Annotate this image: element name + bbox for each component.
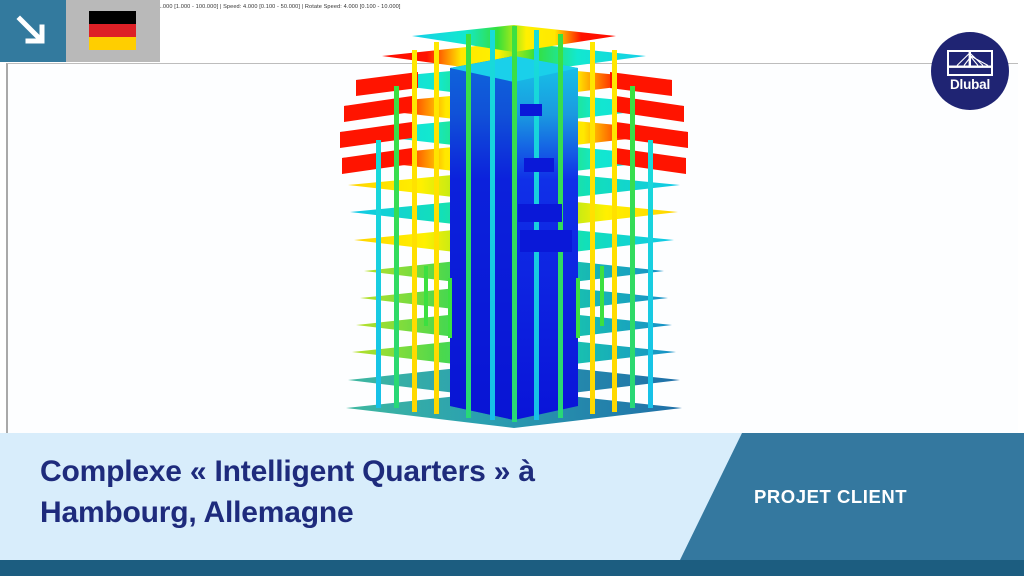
- status-badge: PROJET CLIENT: [754, 486, 907, 508]
- caption-banner: Complexe « Intelligent Quarters » à Hamb…: [0, 433, 1024, 576]
- dlubal-logo[interactable]: Dlubal: [931, 32, 1009, 110]
- fea-building-model: [338, 8, 690, 436]
- truss-bridge-icon: [947, 50, 993, 76]
- project-title: Complexe « Intelligent Quarters » à Hamb…: [40, 451, 660, 534]
- dlubal-wordmark: Dlubal: [950, 78, 990, 92]
- germany-flag-icon: [89, 11, 136, 50]
- expand-arrow-tile[interactable]: [0, 0, 66, 62]
- country-flag-tile: [66, 0, 160, 62]
- rfem-viewport: m: 1.000 [1.000 - 100.000] | Speed: 4.00…: [0, 0, 1024, 440]
- slide-canvas: m: 1.000 [1.000 - 100.000] | Speed: 4.00…: [0, 0, 1024, 576]
- arrow-down-right-icon: [16, 15, 50, 49]
- banner-bottom-strip: [0, 560, 1024, 576]
- fea-model-graphic: [338, 8, 690, 436]
